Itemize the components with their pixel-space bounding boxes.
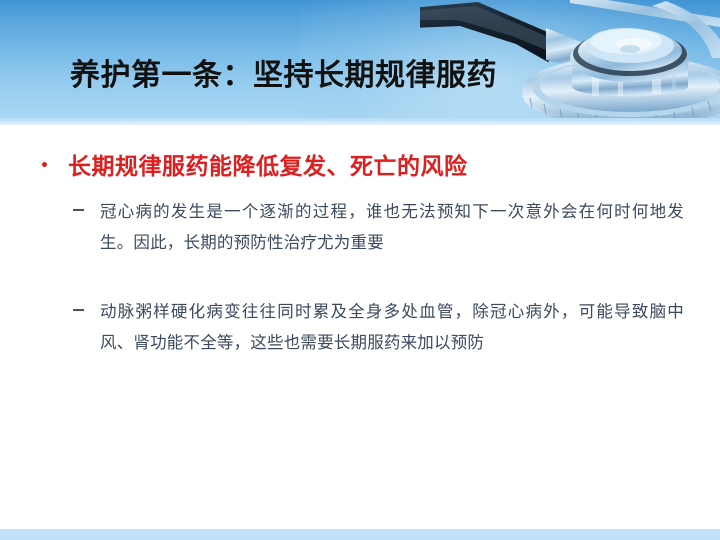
bullet-level2: 冠心病的发生是一个逐渐的过程，谁也无法预知下一次意外会在何时何地发生。因此，长期… [0,196,720,258]
page-title: 养护第一条：坚持长期规律服药 [70,56,540,96]
bullet-level2-label: 动脉粥样硬化病变往往同时累及全身多处血管，除冠心病外，可能导致脑中风、肾功能不全… [100,296,684,358]
bullet-level1: 长期规律服药能降低复发、死亡的风险 [0,150,720,182]
bullet-level2-label: 冠心病的发生是一个逐渐的过程，谁也无法预知下一次意外会在何时何地发生。因此，长期… [100,196,684,258]
slide-footer-bar [0,529,720,540]
bullet-dash-icon [73,309,84,311]
bullet-level1-label: 长期规律服药能降低复发、死亡的风险 [38,150,468,182]
bullet-level2: 动脉粥样硬化病变往往同时累及全身多处血管，除冠心病外，可能导致脑中风、肾功能不全… [0,296,720,358]
slide-content-body: 长期规律服药能降低复发、死亡的风险 冠心病的发生是一个逐渐的过程，谁也无法预知下… [0,150,720,525]
presentation-slide: 养护第一条：坚持长期规律服药 长期规律服药能降低复发、死亡的风险 冠心病的发生是… [0,0,720,540]
bullet-dash-icon [73,209,84,211]
banner-underline-strip [0,118,720,125]
bullet-dot-icon [42,162,47,167]
content-spacer [0,280,720,296]
